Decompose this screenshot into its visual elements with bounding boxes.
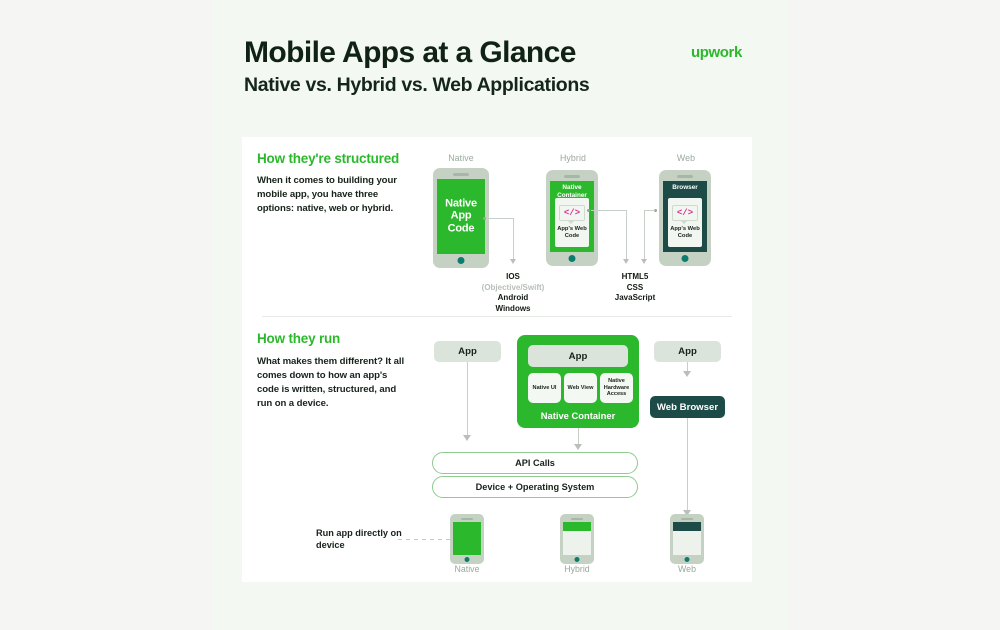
- phone-home-button-icon: [465, 557, 470, 562]
- api-calls-pill: API Calls: [432, 452, 638, 474]
- dashed-connector: [398, 539, 453, 540]
- connector-line: [467, 362, 468, 437]
- tech-line-windows: Windows: [473, 304, 553, 315]
- connector-line: [487, 218, 514, 219]
- connector-arrow-icon: [641, 259, 647, 264]
- phone-notch-icon: [453, 173, 469, 176]
- device-screen-hybrid: [563, 522, 591, 555]
- native-ui-box: Native UI: [528, 373, 561, 403]
- phone-native: Native App Code: [433, 168, 489, 268]
- phone-home-button-icon: [575, 557, 580, 562]
- device-os-pill: Device + Operating System: [432, 476, 638, 498]
- tech-line-html5: HTML5: [595, 272, 675, 283]
- native-container-title: Native Container: [517, 410, 639, 421]
- device-caption-hybrid: Hybrid: [547, 564, 607, 574]
- connector-dot: [587, 209, 590, 212]
- phone-screen-hybrid: Native Container </> App's Web Code: [550, 181, 594, 252]
- phone-notch-icon: [677, 175, 693, 178]
- web-browser-box: Web Browser: [650, 396, 725, 418]
- code-icon: </>: [559, 205, 585, 221]
- phone-screen-native: Native App Code: [437, 179, 485, 254]
- connector-arrow-icon: [683, 371, 691, 377]
- column-caption-native: Native: [430, 153, 492, 163]
- app-web-code-label: App's Web Code: [555, 226, 589, 240]
- tech-stack-web: HTML5 CSS JavaScript: [595, 272, 675, 304]
- device-phone-web: [670, 514, 704, 564]
- connector-arrow-icon: [510, 259, 516, 264]
- connector-line: [513, 218, 514, 260]
- connector-line: [644, 210, 645, 260]
- phone-notch-icon: [564, 175, 580, 178]
- app-web-code-card-hybrid: </> App's Web Code: [555, 198, 589, 247]
- app-web-code-label: App's Web Code: [668, 226, 702, 240]
- hybrid-top-bar: [563, 522, 591, 531]
- phone-web: Browser </> App's Web Code: [659, 170, 711, 266]
- structured-copy: When it comes to building your mobile ap…: [257, 174, 417, 216]
- device-screen-web: [673, 522, 701, 555]
- native-app-code-label: Native App Code: [437, 197, 485, 236]
- device-caption-native: Native: [437, 564, 497, 574]
- phone-screen-web: Browser </> App's Web Code: [663, 181, 707, 252]
- tech-line-objective-swift: (Objective/Swift): [473, 283, 553, 294]
- device-phone-hybrid: [560, 514, 594, 564]
- app-box-web: App: [654, 341, 721, 362]
- phone-notch-icon: [461, 518, 473, 520]
- connector-line: [626, 210, 627, 260]
- page-title: Mobile Apps at a Glance: [244, 36, 764, 70]
- device-caption-web: Web: [657, 564, 717, 574]
- native-hardware-access-box: Native Hardware Access: [600, 373, 633, 403]
- connector-line: [644, 210, 655, 211]
- infographic-page: Mobile Apps at a Glance Native vs. Hybri…: [0, 0, 1000, 630]
- browser-label: Browser: [663, 184, 707, 192]
- connector-line: [591, 210, 627, 211]
- tech-stack-native: IOS (Objective/Swift) Android Windows: [473, 272, 553, 314]
- phone-home-button-icon: [685, 557, 690, 562]
- app-box-hybrid: App: [528, 345, 628, 367]
- phone-home-button-icon: [682, 255, 689, 262]
- phone-notch-icon: [571, 518, 583, 520]
- connector-arrow-icon: [574, 444, 582, 450]
- tech-line-javascript: JavaScript: [595, 293, 675, 304]
- code-icon: </>: [672, 205, 698, 221]
- run-copy: What makes them different? It all comes …: [257, 355, 407, 411]
- section-divider: [262, 316, 732, 317]
- column-caption-hybrid: Hybrid: [542, 153, 604, 163]
- device-screen-native: [453, 522, 481, 555]
- header: Mobile Apps at a Glance Native vs. Hybri…: [244, 36, 764, 97]
- web-view-box: Web View: [564, 373, 597, 403]
- phone-notch-icon: [681, 518, 693, 520]
- phone-home-button-icon: [569, 255, 576, 262]
- page-subtitle: Native vs. Hybrid vs. Web Applications: [244, 74, 764, 97]
- upwork-logo: upwork: [691, 44, 742, 61]
- connector-dot: [483, 217, 486, 220]
- tech-line-ios: IOS: [473, 272, 553, 283]
- tech-line-css: CSS: [595, 283, 675, 294]
- device-phone-native: [450, 514, 484, 564]
- connector-arrow-icon: [623, 259, 629, 264]
- phone-hybrid: Native Container </> App's Web Code: [546, 170, 598, 266]
- app-web-code-card-web: </> App's Web Code: [668, 198, 702, 247]
- connector-arrow-icon: [463, 435, 471, 441]
- phone-home-button-icon: [458, 257, 465, 264]
- run-heading: How they run: [257, 331, 457, 346]
- native-container-block: App Native UI Web View Native Hardware A…: [517, 335, 639, 428]
- web-top-bar: [673, 522, 701, 531]
- tech-line-android: Android: [473, 293, 553, 304]
- connector-line: [687, 418, 688, 512]
- app-box-native: App: [434, 341, 501, 362]
- column-caption-web: Web: [655, 153, 717, 163]
